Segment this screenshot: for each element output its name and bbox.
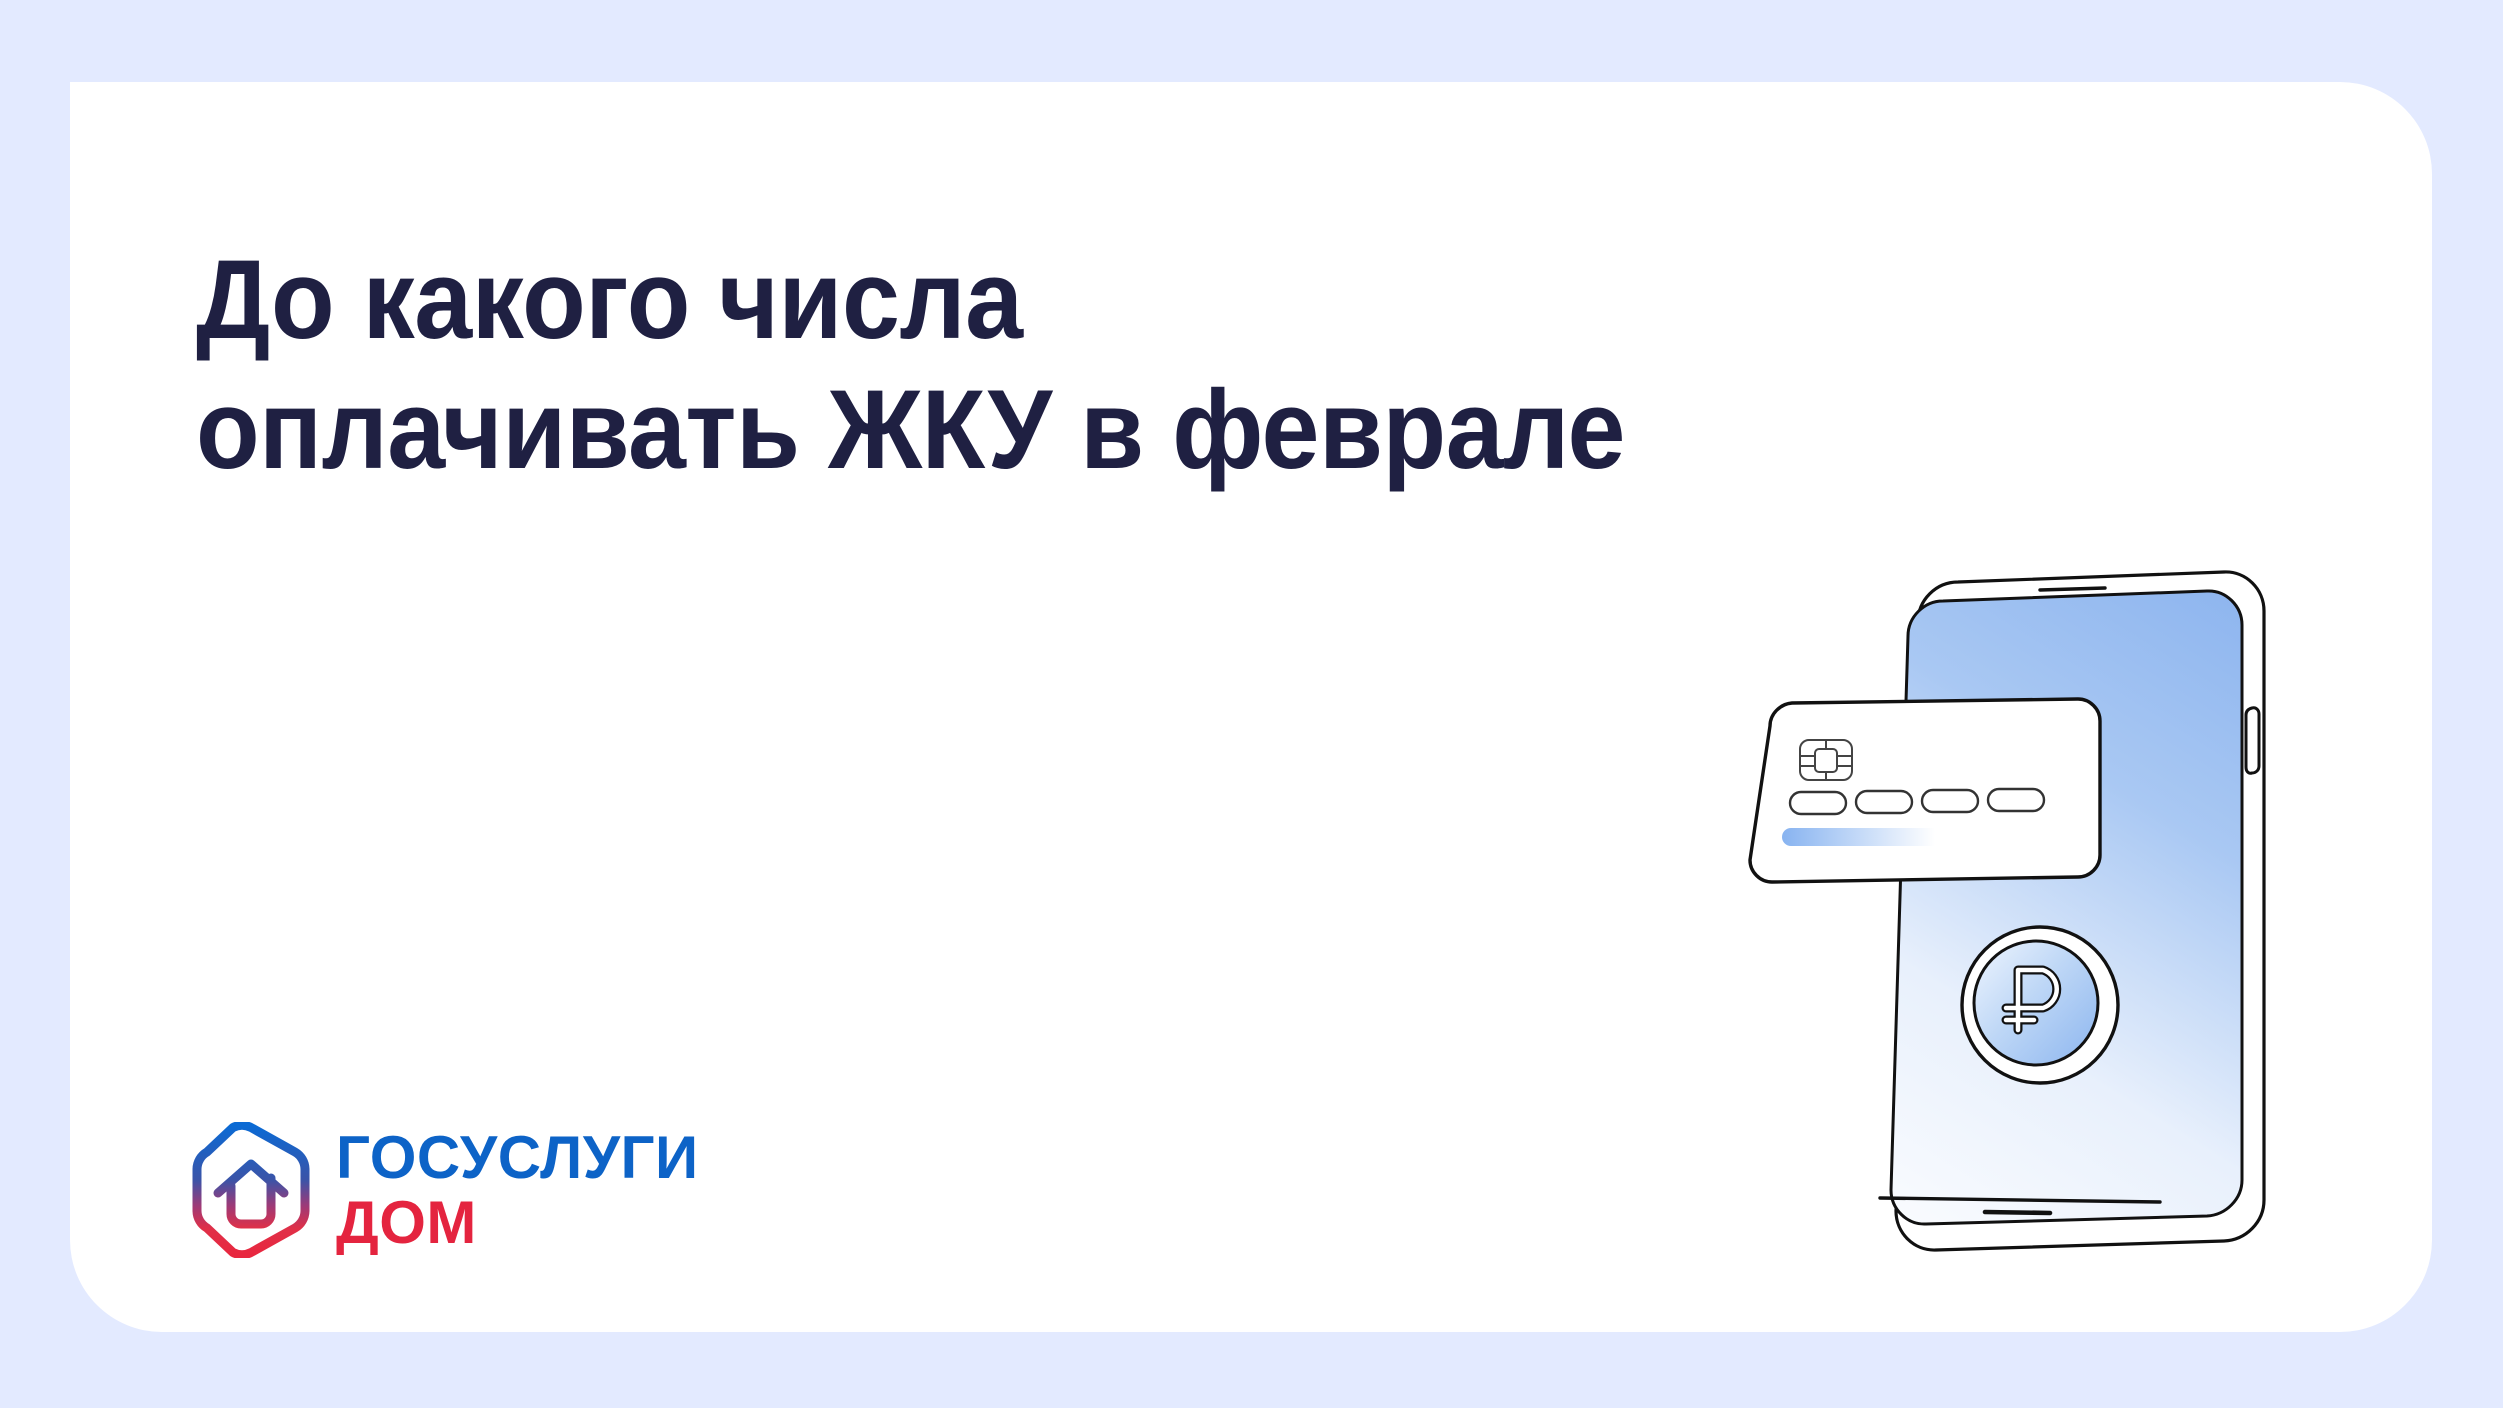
page-title: До какого числа оплачивать ЖКУ в феврале <box>196 235 1824 495</box>
phone-earpiece <box>2040 588 2105 590</box>
ruble-coin <box>1962 927 2118 1083</box>
gosuslugi-dom-logo[interactable]: ГОСУСЛУГИ ДОМ <box>190 1122 699 1258</box>
phone-bottom-speaker <box>1985 1212 2050 1213</box>
smartphone-screen <box>1891 591 2242 1224</box>
logo-word-gosuslugi: ГОСУСЛУГИ <box>336 1128 699 1187</box>
hexagon-house-icon <box>190 1122 312 1258</box>
logo-wordmark: ГОСУСЛУГИ ДОМ <box>336 1128 699 1253</box>
bank-card <box>1750 699 2100 882</box>
payment-illustration <box>1760 560 2300 1300</box>
logo-word-dom: ДОМ <box>336 1193 699 1252</box>
phone-side-button <box>2246 708 2259 773</box>
card-balance-stripe <box>1782 828 1944 846</box>
poster-canvas: До какого числа оплачивать ЖКУ в феврале <box>0 0 2503 1408</box>
